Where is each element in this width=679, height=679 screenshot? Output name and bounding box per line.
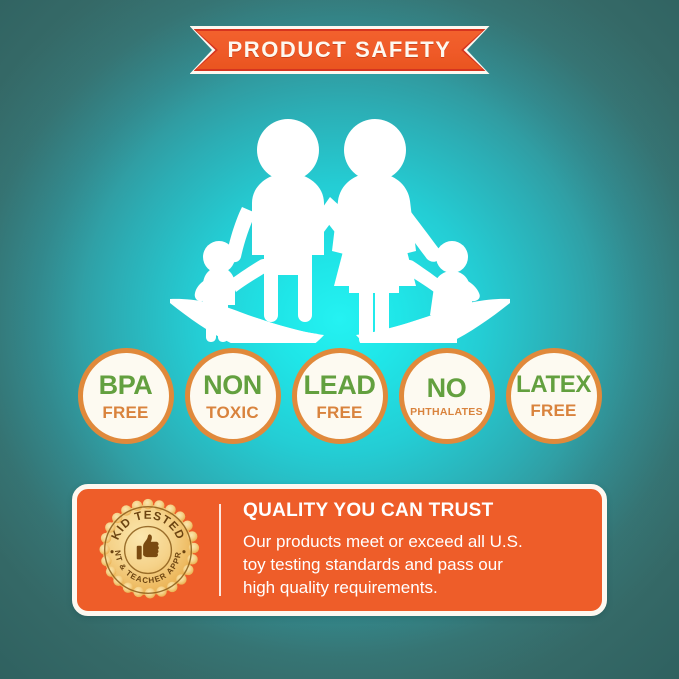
badge-no-phthalates: NO PHTHALATES [399,348,495,444]
mother-figure [298,119,441,343]
kid-tested-seal-cell: KID TESTED PARENT & TEACHER APPROVED [77,498,219,602]
product-safety-ribbon: PRODUCT SAFETY [190,26,490,74]
badge-primary-text: NON [203,372,262,399]
quality-trust-panel: KID TESTED PARENT & TEACHER APPROVED QUA… [72,484,607,616]
safety-badge-row: BPA FREE NON TOXIC LEAD FREE NO PHTHALAT… [0,348,679,444]
badge-secondary-text: FREE [530,402,576,419]
badge-secondary-text: TOXIC [206,404,259,421]
badge-bpa-free: BPA FREE [78,348,174,444]
panel-title: QUALITY YOU CAN TRUST [243,500,523,522]
badge-lead-free: LEAD FREE [292,348,388,444]
badge-non-toxic: NON TOXIC [185,348,281,444]
panel-body-line-1: Our products meet or exceed all U.S. [243,531,523,554]
panel-body-line-3: high quality requirements. [243,577,523,600]
badge-latex-free: LATEX FREE [506,348,602,444]
badge-primary-text: LATEX [516,373,591,397]
family-in-hands-illustration [170,108,510,343]
badge-primary-text: BPA [99,372,153,399]
page-title: PRODUCT SAFETY [190,26,490,74]
panel-body: Our products meet or exceed all U.S. toy… [243,531,523,600]
panel-text-block: QUALITY YOU CAN TRUST Our products meet … [221,500,539,600]
badge-secondary-text: FREE [316,404,362,421]
kid-tested-seal: KID TESTED PARENT & TEACHER APPROVED [96,498,200,602]
panel-body-line-2: toy testing standards and pass our [243,554,523,577]
badge-secondary-text: PHTHALATES [410,407,483,418]
badge-secondary-text: FREE [102,404,148,421]
badge-primary-text: NO [427,375,467,402]
badge-primary-text: LEAD [304,372,376,399]
product-safety-poster: PRODUCT SAFETY [0,0,679,679]
